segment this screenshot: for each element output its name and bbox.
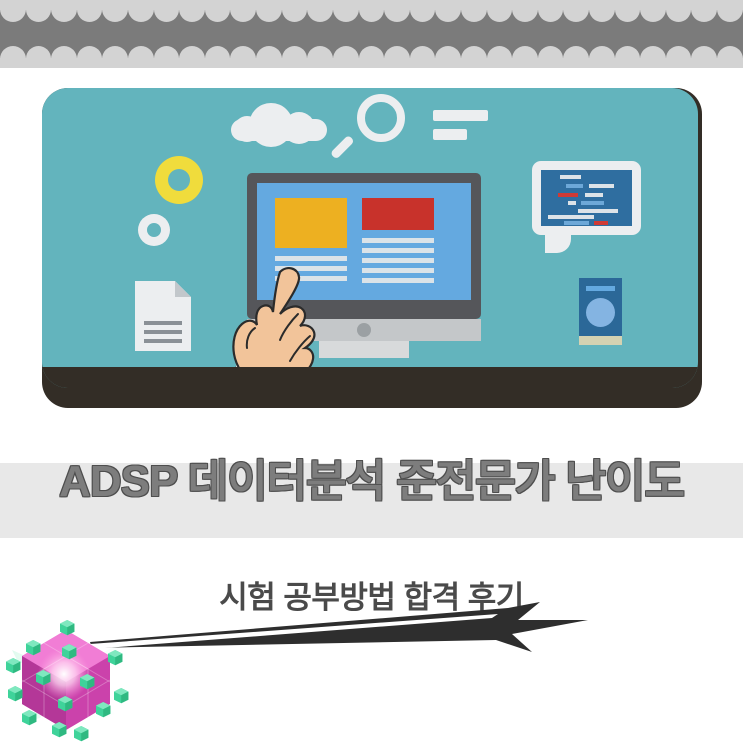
scallop bbox=[538, 46, 564, 59]
scallop bbox=[410, 9, 436, 22]
scallop bbox=[691, 46, 717, 59]
scallop bbox=[640, 9, 666, 22]
code-line bbox=[581, 201, 604, 205]
document-line bbox=[144, 339, 182, 343]
scallop bbox=[51, 9, 77, 22]
scallop bbox=[461, 46, 487, 59]
scallop bbox=[154, 9, 180, 22]
document-fold bbox=[175, 281, 191, 297]
code-line bbox=[566, 184, 583, 188]
code-line bbox=[589, 184, 614, 188]
gear-icon-small bbox=[130, 206, 178, 254]
screen-text-line bbox=[275, 256, 347, 261]
scallop bbox=[615, 9, 641, 22]
code-line bbox=[578, 209, 618, 213]
scallop bbox=[666, 9, 692, 22]
scallop bbox=[666, 46, 692, 59]
blue-book-icon bbox=[579, 278, 622, 345]
code-line bbox=[585, 193, 603, 197]
text-bar bbox=[433, 110, 488, 121]
scallop bbox=[0, 9, 26, 22]
scallop bbox=[461, 9, 487, 22]
scallop bbox=[563, 46, 589, 59]
scallop bbox=[282, 9, 308, 22]
book-cover bbox=[579, 278, 622, 336]
scallop bbox=[538, 9, 564, 22]
scallop bbox=[359, 46, 385, 59]
screen-text-line bbox=[362, 268, 434, 273]
scallop bbox=[435, 46, 461, 59]
scallop bbox=[563, 9, 589, 22]
scallop bbox=[26, 9, 52, 22]
desk-surface bbox=[42, 367, 698, 388]
document-line bbox=[144, 330, 182, 334]
scallop bbox=[230, 9, 256, 22]
scallop bbox=[487, 46, 513, 59]
gear-icon-large bbox=[144, 145, 214, 215]
book-pages bbox=[579, 336, 622, 345]
magnifier-handle bbox=[330, 135, 355, 160]
scallop bbox=[615, 46, 641, 59]
cloud-base bbox=[231, 119, 327, 141]
scallop bbox=[307, 46, 333, 59]
scallop bbox=[128, 46, 154, 59]
screen-text-line bbox=[362, 248, 434, 253]
scallop bbox=[230, 46, 256, 59]
scallop bbox=[205, 9, 231, 22]
page-title: ADSP 데이터분석 준전문가 난이도 bbox=[0, 450, 743, 514]
scallop bbox=[512, 46, 538, 59]
scallop bbox=[410, 46, 436, 59]
scallop bbox=[384, 9, 410, 22]
screen-text-line bbox=[362, 258, 434, 263]
scallop bbox=[589, 46, 615, 59]
scallop bbox=[359, 9, 385, 22]
magnifying-glass-icon bbox=[344, 94, 418, 172]
scallop bbox=[333, 9, 359, 22]
data-cube-graphic bbox=[4, 614, 164, 743]
scallop bbox=[282, 46, 308, 59]
scallop bbox=[102, 9, 128, 22]
gear-hole bbox=[168, 169, 190, 191]
scallop bbox=[717, 9, 743, 22]
magnifier-ring bbox=[357, 94, 405, 142]
screen-block-red bbox=[362, 198, 434, 230]
code-line bbox=[560, 175, 581, 179]
scalloped-banner bbox=[0, 0, 743, 68]
scallop bbox=[128, 9, 154, 22]
scallop bbox=[77, 46, 103, 59]
banner-scallops-top bbox=[0, 9, 743, 22]
code-line bbox=[568, 201, 576, 205]
screen-text-line bbox=[362, 278, 434, 283]
scallop bbox=[179, 46, 205, 59]
scallop bbox=[384, 46, 410, 59]
screen-block-yellow bbox=[275, 198, 347, 248]
cloud-icon bbox=[231, 103, 327, 141]
illustration-card bbox=[42, 88, 698, 388]
scallop bbox=[256, 9, 282, 22]
text-bars-icon bbox=[433, 110, 488, 140]
code-line bbox=[564, 221, 589, 225]
document-line bbox=[144, 321, 182, 325]
scallop bbox=[179, 9, 205, 22]
scallop bbox=[0, 46, 26, 59]
scallop bbox=[333, 46, 359, 59]
scallop bbox=[589, 9, 615, 22]
code-line bbox=[558, 193, 578, 197]
code-line bbox=[594, 221, 608, 225]
code-speech-bubble-icon bbox=[532, 161, 641, 253]
scallop bbox=[307, 9, 333, 22]
banner-scallops-bottom bbox=[0, 46, 743, 59]
scallop bbox=[691, 9, 717, 22]
scallop bbox=[77, 9, 103, 22]
scallop bbox=[717, 46, 743, 59]
bubble-screen bbox=[541, 170, 632, 226]
monitor-power-dot bbox=[357, 323, 371, 337]
right-arrow-decoration bbox=[88, 600, 608, 660]
scallop bbox=[26, 46, 52, 59]
scallop bbox=[487, 9, 513, 22]
scallop bbox=[435, 9, 461, 22]
bubble-frame bbox=[532, 161, 641, 235]
code-line bbox=[548, 215, 594, 219]
scallop bbox=[640, 46, 666, 59]
scallop bbox=[512, 9, 538, 22]
scallop bbox=[154, 46, 180, 59]
book-title-bar bbox=[586, 286, 615, 291]
text-bar bbox=[433, 129, 467, 140]
scallop bbox=[205, 46, 231, 59]
book-circle bbox=[586, 298, 615, 327]
scallop bbox=[256, 46, 282, 59]
gear-hole bbox=[147, 223, 161, 237]
screen-text-line bbox=[362, 238, 434, 243]
data-analysis-illustration bbox=[42, 88, 702, 408]
document-icon bbox=[135, 281, 191, 351]
scallop bbox=[51, 46, 77, 59]
scallop bbox=[102, 46, 128, 59]
